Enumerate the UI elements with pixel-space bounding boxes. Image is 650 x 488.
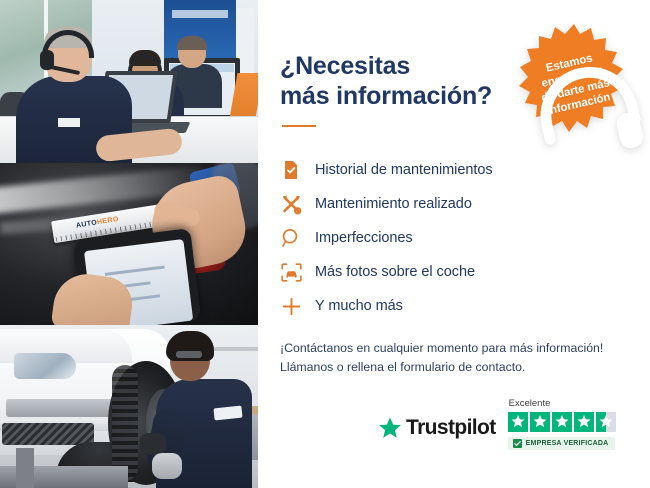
car-lift-post: [16, 448, 34, 488]
list-item: Más fotos sobre el coche: [280, 255, 624, 289]
list-item-label: Mantenimiento realizado: [315, 196, 472, 212]
ruler-brand-hero: HERO: [97, 216, 120, 226]
list-item: Imperfecciones: [280, 221, 624, 255]
photo-column: AUTOHERO: [0, 0, 258, 488]
trustpilot-rating-label: Excelente: [509, 398, 551, 409]
trustpilot-stars: [508, 412, 616, 432]
call-center-agents-photo: [0, 0, 258, 163]
agent-one-name-badge: [58, 118, 80, 127]
ruler-brand-auto: AUTO: [76, 219, 98, 229]
star-filled: [530, 412, 550, 432]
star-filled: [574, 412, 594, 432]
title-divider: [282, 125, 316, 127]
mechanic-wheel-inspection-photo: [0, 325, 258, 488]
trustpilot-star-icon: [378, 416, 402, 440]
trustpilot-logo[interactable]: Trustpilot: [378, 416, 496, 450]
tablet-line: [105, 266, 165, 276]
trustpilot-score: Excelente: [508, 398, 616, 450]
car-inspection-ruler-tablet-photo: AUTOHERO: [0, 163, 258, 325]
list-item-label: Historial de mantenimientos: [315, 162, 493, 178]
tools-cross-icon: [280, 193, 302, 215]
list-item: Mantenimiento realizado: [280, 187, 624, 221]
car-photo-icon: [280, 261, 302, 283]
list-item-label: Más fotos sobre el coche: [315, 264, 475, 280]
info-badge: Estamos encantados de darte más informac…: [514, 22, 634, 142]
car-grille-lower: [2, 423, 94, 445]
document-check-icon: [280, 159, 302, 181]
list-item: Y mucho más: [280, 289, 624, 323]
information-banner: AUTOHERO: [0, 0, 650, 488]
star-half: [596, 412, 616, 432]
mechanic-glove: [152, 453, 182, 479]
safety-glasses: [176, 351, 202, 358]
plus-icon: [280, 295, 302, 317]
trustpilot-rating[interactable]: Trustpilot Excelente: [378, 398, 616, 450]
content-panel: ¿Necesitas más información? Estamos enca…: [258, 0, 650, 488]
star-filled: [552, 412, 572, 432]
agent-three-hair: [177, 36, 207, 50]
headline-line-1: ¿Necesitas: [280, 52, 410, 80]
contact-line-2: Llámanos o rellena el formulario de cont…: [280, 358, 624, 377]
list-item-label: Imperfecciones: [315, 230, 413, 246]
headline-line-2: más información?: [280, 82, 492, 110]
magnifier-icon: [280, 227, 302, 249]
check-icon: [513, 439, 522, 448]
contact-text: ¡Contáctanos en cualquier momento para m…: [280, 339, 624, 377]
car-headlight: [14, 353, 76, 379]
verified-company-badge: EMPRESA VERIFICADA: [508, 437, 616, 450]
verified-label: EMPRESA VERIFICADA: [526, 440, 609, 447]
list-item-label: Y mucho más: [315, 298, 403, 314]
car-grille-upper: [6, 399, 118, 417]
tyre-tread: [112, 365, 138, 481]
star-filled: [508, 412, 528, 432]
trustpilot-wordmark: Trustpilot: [406, 416, 496, 440]
contact-line-1: ¡Contáctanos en cualquier momento para m…: [280, 339, 624, 358]
mechanic-glove-back: [140, 433, 166, 455]
